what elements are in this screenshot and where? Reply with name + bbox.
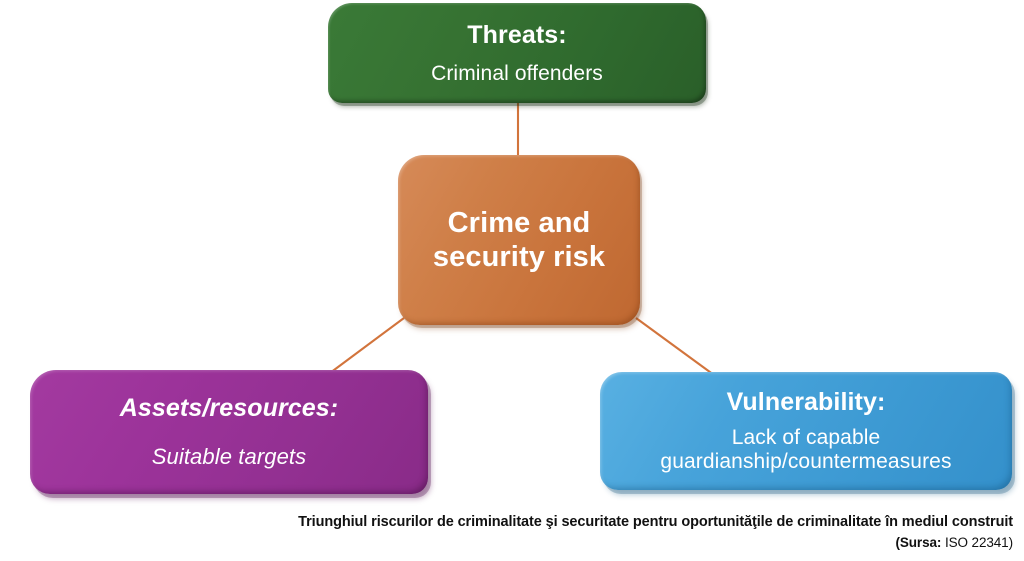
caption-source-value: ISO 22341) [941,535,1013,550]
node-threats-description: Criminal offenders [431,62,603,86]
caption-source: (Sursa: ISO 22341) [0,533,1013,553]
node-vulnerability-description-line-2: guardianship/countermeasures [660,450,951,474]
node-assets-description: Suitable targets [152,444,306,469]
node-vulnerability-description: Lack of capable guardianship/countermeas… [660,426,951,474]
caption-title: Triunghiul riscurilor de criminalitate ş… [0,512,1013,533]
node-assets-resources[interactable]: Assets/resources: Suitable targets [30,370,428,494]
connector-risk-to-vulnerability [636,318,714,375]
node-assets-title: Assets/resources: [120,394,339,422]
caption-source-label: (Sursa: [895,535,941,550]
node-vulnerability[interactable]: Vulnerability: Lack of capable guardians… [600,372,1012,490]
node-vulnerability-description-line-1: Lack of capable [660,426,951,450]
diagram-canvas: Threats: Criminal offenders Crime and se… [0,0,1024,561]
node-threats-title: Threats: [467,21,566,49]
node-threats[interactable]: Threats: Criminal offenders [328,3,706,103]
node-crime-and-security-risk[interactable]: Crime and security risk [398,155,640,325]
caption: Triunghiul riscurilor de criminalitate ş… [0,512,1013,553]
node-vulnerability-title: Vulnerability: [727,388,886,416]
connector-risk-to-assets [330,318,404,373]
node-risk-title: Crime and security risk [398,206,640,274]
